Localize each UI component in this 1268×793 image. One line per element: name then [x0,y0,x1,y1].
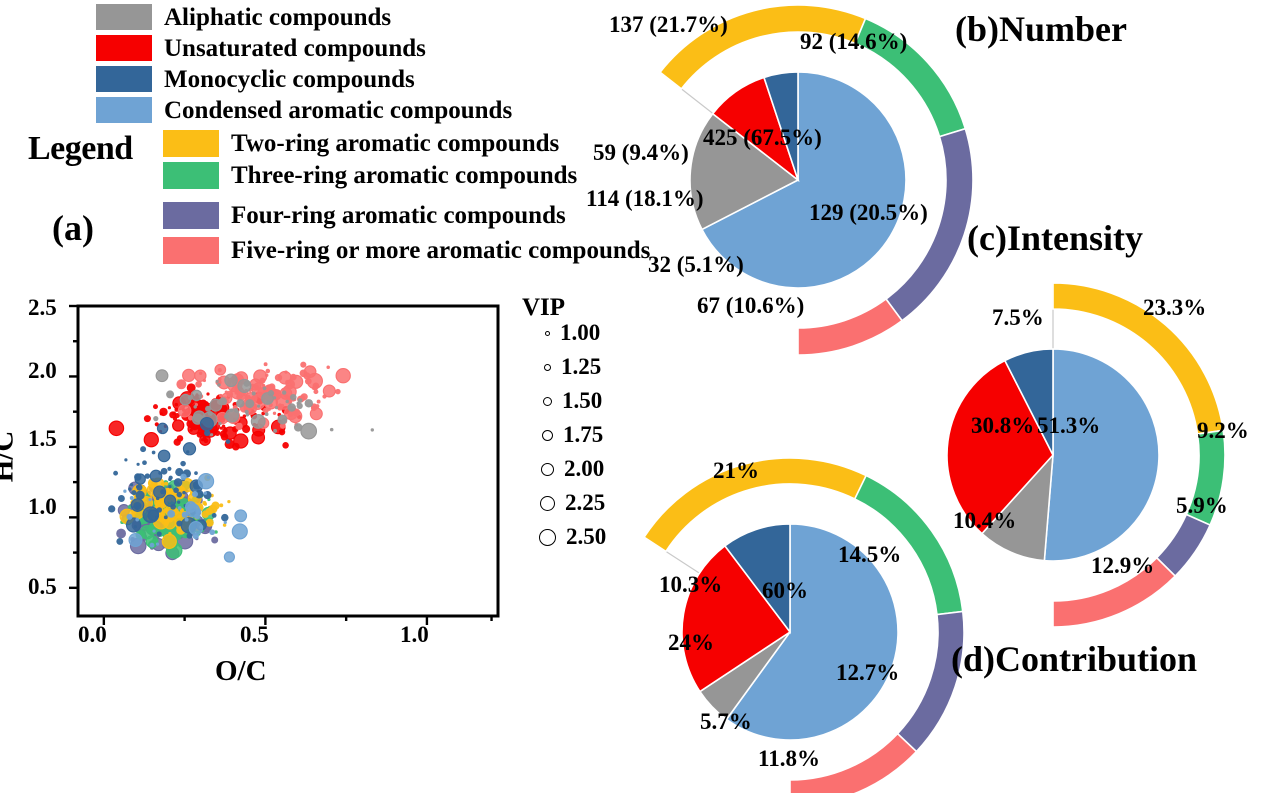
scatter-point-condensed [123,490,126,493]
scatter-point-unsaturated [204,438,209,443]
scatter-point-condensed [194,513,200,519]
scatter-point-unsaturated [160,412,163,415]
vip-marker-icon [540,496,555,511]
scatter-point-unsaturated [242,425,250,433]
scatter-point-condensed [192,491,198,497]
scatter-point-aliphatic [257,404,260,407]
vip-value: 1.25 [561,354,601,380]
scatter-point-condensed [186,502,196,512]
scatter-point-five-ring [264,362,268,366]
vip-value: 2.00 [564,456,604,482]
vip-value: 1.75 [563,422,603,448]
scatter-point-condensed [178,506,182,510]
label-b-outer-four-ring: 129 (20.5%) [809,200,928,226]
scatter-point-aliphatic [210,399,222,411]
legend-swatch-five-ring [163,237,219,264]
scatter-point-condensed [204,491,207,494]
scatter-point-two-ring [175,511,182,518]
scatter-point-monocyclic [182,491,186,495]
scatter-point-aliphatic [252,391,256,395]
scatter-point-condensed [126,514,132,520]
label-b-inner-aliphatic: 32 (5.1%) [648,252,744,278]
scatter-point-monocyclic [221,514,229,522]
scatter-point-monocyclic [140,446,146,452]
scatter-point-five-ring [323,385,335,397]
label-b-inner-unsaturated: 114 (18.1%) [586,186,704,212]
donut-chart-contribution [620,440,990,793]
scatter-point-unsaturated [282,442,289,449]
xtick-1.0: 1.0 [400,622,429,648]
scatter-point-two-ring [159,501,164,506]
scatter-point-aliphatic [166,390,174,398]
scatter-point-aliphatic [330,428,334,432]
legend-label-four-ring: Four-ring aromatic compounds [231,203,566,228]
scatter-point-aliphatic [246,413,249,416]
scatter-point-condensed [209,529,215,535]
scatter-point-monocyclic [160,489,165,494]
inner-slice-0 [1044,349,1159,561]
vip-marker-icon [539,529,556,546]
scatter-point-condensed [189,522,202,535]
scatter-point-monocyclic [158,450,170,462]
label-d-outer-two-ring: 21% [713,458,759,484]
scatter-point-condensed [130,496,134,500]
scatter-point-condensed [129,534,142,547]
donut-contribution-svg [620,440,990,793]
label-b-outer-two-ring: 137 (21.7%) [609,12,728,38]
scatter-point-aliphatic [236,399,245,408]
scatter-point-aliphatic [285,400,288,403]
scatter-point-monocyclic [177,501,180,504]
ytick-1.5: 1.5 [28,426,57,452]
scatter-point-monocyclic [134,525,137,528]
label-d-inner-condensed: 60% [762,578,808,604]
scatter-point-unsaturated [222,425,225,428]
panel-b-title: (b)Number [955,8,1127,50]
scatter-point-aliphatic [305,399,313,407]
vip-item-1.25: 1.25 [544,354,601,380]
outer-arc-3 [798,299,902,355]
scatter-point-two-ring [206,519,214,527]
scatter-point-monocyclic [177,492,183,498]
scatter-point-two-ring [211,502,219,510]
scatter-point-monocyclic [142,460,147,465]
scatter-point-monocyclic [118,495,125,502]
scatter-point-monocyclic [145,473,151,479]
legend-swatch-unsaturated [96,35,152,61]
legend-item-five-ring: Five-ring or more aromatic compounds [163,237,650,264]
scatter-point-condensed [235,510,247,522]
scatter-point-monocyclic [152,451,156,455]
scatter-point-monocyclic [124,458,127,461]
scatter-point-five-ring [336,369,350,383]
legend-swatch-four-ring [163,202,219,229]
legend-label-aliphatic: Aliphatic compounds [164,5,391,30]
scatter-plot-panel: 2.5 2.0 1.5 1.0 0.5 0.0 0.5 1.0 O/C H/C [0,292,620,692]
scatter-point-aliphatic [156,370,168,382]
scatter-point-aliphatic [275,406,278,409]
legend-swatch-aliphatic [96,4,152,30]
scatter-point-monocyclic [134,473,141,480]
scatter-point-five-ring [183,369,195,381]
scatter-point-condensed [167,510,175,518]
scatter-point-aliphatic [234,408,239,413]
scatter-point-aliphatic [263,386,267,390]
legend-label-condensed: Condensed aromatic compounds [164,98,512,123]
panel-a-label: (a) [52,207,94,249]
scatter-point-five-ring [300,362,306,368]
label-c-outer-four-ring: 5.9% [1176,493,1228,519]
scatter-point-unsaturated [144,415,151,422]
vip-item-2.25: 2.25 [540,490,605,516]
scatter-point-condensed [182,511,188,517]
scatter-point-aliphatic [371,428,374,431]
scatter-point-five-ring [215,364,226,375]
scatter-point-monocyclic [157,423,167,433]
scatter-point-five-ring [265,373,268,376]
scatter-point-monocyclic [200,417,213,430]
scatter-point-aliphatic [277,415,287,425]
scatter-point-two-ring [206,508,213,515]
scatter-point-five-ring [235,423,242,430]
plot-frame [78,306,498,616]
scatter-point-aliphatic [225,374,237,386]
label-c-inner-monocyclic: 7.5% [992,305,1044,331]
scatter-point-aliphatic [265,412,269,416]
vip-marker-icon [545,331,550,336]
legend-swatch-monocyclic [96,66,152,92]
label-d-outer-five-ring: 11.8% [758,746,820,772]
scatter-point-aliphatic [193,405,196,408]
scatter-point-aliphatic [153,416,158,421]
donut-contribution-arcs [644,458,964,793]
scatter-point-four-ring [211,537,218,544]
ytick-0.5: 0.5 [28,574,57,600]
scatter-point-two-ring [164,482,168,486]
scatter-point-three-ring [128,505,131,508]
scatter-point-five-ring [178,404,191,417]
scatter-point-monocyclic [156,497,160,501]
scatter-point-monocyclic [113,471,118,476]
scatter-point-five-ring [314,406,318,410]
label-c-outer-five-ring: 12.9% [1091,553,1154,579]
scatter-point-monocyclic [155,516,158,519]
scatter-point-monocyclic [158,471,161,474]
y-axis-title: H/C [0,431,20,483]
scatter-point-aliphatic [238,379,251,392]
label-c-inner-unsaturated: 30.8% [971,413,1034,439]
scatter-point-monocyclic [212,513,217,518]
label-d-inner-monocyclic: 10.3% [659,572,722,598]
scatter-point-condensed [156,543,159,546]
label-b-inner-condensed: 425 (67.5%) [703,125,822,151]
label-c-inner-condensed: 51.3% [1037,413,1100,439]
ytick-1.0: 1.0 [28,494,57,520]
scatter-point-aliphatic [282,390,286,394]
legend-label-unsaturated: Unsaturated compounds [164,36,426,61]
scatter-point-aliphatic [245,399,254,408]
scatter-point-monocyclic [176,520,182,526]
label-d-inner-aliphatic: 5.7% [700,709,752,735]
scatter-point-five-ring [284,370,287,373]
scatter-point-aliphatic [191,390,201,400]
figure-root: Aliphatic compounds Unsaturated compound… [0,0,1268,793]
vip-item-2.00: 2.00 [541,456,604,482]
scatter-point-five-ring [266,369,271,374]
legend-item-two-ring: Two-ring aromatic compounds [163,130,559,157]
scatter-point-unsaturated [173,420,184,431]
scatter-point-five-ring [303,372,310,379]
legend-label-five-ring: Five-ring or more aromatic compounds [231,238,650,263]
scatter-point-aliphatic [251,415,265,429]
scatter-point-aliphatic [208,411,213,416]
label-c-outer-three-ring: 9.2% [1197,418,1249,444]
scatter-point-monocyclic [168,485,171,488]
legend-swatch-two-ring [163,130,219,157]
label-d-outer-four-ring: 12.7% [836,660,899,686]
scatter-point-aliphatic [266,400,270,404]
scatter-point-five-ring [275,374,282,381]
xtick-0.5: 0.5 [240,622,269,648]
scatter-point-five-ring [290,374,297,381]
scatter-point-five-ring [289,410,302,423]
scatter-point-unsaturated [232,443,240,451]
xtick-0.0: 0.0 [78,622,107,648]
label-b-inner-monocyclic: 59 (9.4%) [593,140,689,166]
scatter-point-condensed [185,518,189,522]
scatter-point-unsaturated [175,403,179,407]
label-b-outer-three-ring: 92 (14.6%) [800,29,907,55]
legend-label-three-ring: Three-ring aromatic compounds [231,163,577,188]
vip-value: 2.50 [566,524,606,550]
scatter-point-condensed [193,533,199,539]
scatter-point-five-ring [219,394,222,397]
scatter-point-five-ring [199,372,202,375]
scatter-point-unsaturated [206,392,209,395]
outer-arc-2 [898,611,964,751]
scatter-point-five-ring [218,377,222,381]
scatter-point-monocyclic [164,495,175,506]
legend-item-unsaturated: Unsaturated compounds [96,35,426,61]
scatter-point-unsaturated [279,429,285,435]
scatter-point-aliphatic [273,396,276,399]
scatter-point-two-ring [162,534,176,548]
legend-heading: Legend [28,130,133,168]
x-axis-title: O/C [215,655,267,688]
scatter-point-five-ring [176,379,186,389]
legend-item-aliphatic: Aliphatic compounds [96,4,391,30]
scatter-point-two-ring [219,503,223,507]
scatter-point-unsaturated [153,404,158,409]
scatter-point-monocyclic [136,484,142,490]
vip-item-1.00: 1.00 [545,320,600,346]
label-d-outer-three-ring: 14.5% [838,542,901,568]
label-b-outer-five-ring: 67 (10.6%) [697,293,804,319]
scatter-point-unsaturated [144,433,158,447]
scatter-point-monocyclic [137,463,140,466]
ytick-2.0: 2.0 [28,358,57,384]
scatter-point-monocyclic [167,467,171,471]
scatter-point-monocyclic [161,468,168,475]
legend-swatch-condensed [96,97,152,123]
scatter-point-five-ring [243,393,246,396]
label-c-outer-two-ring: 23.3% [1143,295,1206,321]
scatter-point-five-ring [277,406,282,411]
panel-d-title: (d)Contribution [951,638,1197,680]
scatter-point-five-ring [267,385,272,390]
scatter-point-aliphatic [287,403,296,412]
vip-item-1.75: 1.75 [542,422,603,448]
scatter-point-condensed [180,474,186,480]
scatter-point-aliphatic [180,394,191,405]
scatter-point-aliphatic [268,390,274,396]
scatter-point-monocyclic [133,502,141,510]
vip-item-2.50: 2.50 [539,524,606,550]
scatter-point-monocyclic [168,478,172,482]
scatter-point-two-ring [204,502,207,505]
scatter-point-aliphatic [216,380,219,383]
vip-marker-icon [541,463,554,476]
scatter-point-condensed [224,521,227,524]
legend-item-three-ring: Three-ring aromatic compounds [163,162,577,189]
legend-item-condensed: Condensed aromatic compounds [96,97,512,123]
scatter-point-five-ring [335,389,341,395]
scatter-point-monocyclic [130,483,133,486]
scatter-point-five-ring [203,379,206,382]
scatter-point-aliphatic [217,383,221,387]
scatter-point-aliphatic [218,422,221,425]
panel-c-title: (c)Intensity [967,217,1143,259]
scatter-point-monocyclic [136,491,145,500]
scatter-point-five-ring [317,400,321,404]
scatter-point-condensed [224,552,234,562]
scatter-point-unsaturated [243,414,247,418]
legend-item-monocyclic: Monocyclic compounds [96,66,415,92]
scatter-point-monocyclic [194,471,198,475]
scatter-point-aliphatic [210,433,213,436]
scatter-point-two-ring [168,532,171,535]
scatter-point-condensed [148,498,151,501]
scatter-point-five-ring [273,412,276,415]
scatter-point-monocyclic [157,531,162,536]
scatter-point-four-ring [116,529,126,539]
vip-marker-icon [542,430,553,441]
vip-item-1.50: 1.50 [543,388,602,414]
vip-marker-icon [543,397,552,406]
scatter-point-monocyclic [183,443,195,455]
vip-legend-title: VIP [522,294,565,322]
legend-item-four-ring: Four-ring aromatic compounds [163,202,566,229]
scatter-point-unsaturated [173,417,177,421]
legend-swatch-three-ring [163,162,219,189]
scatter-point-monocyclic [174,478,183,487]
scatter-point-two-ring [227,500,230,503]
scatter-point-aliphatic [297,403,303,409]
scatter-point-condensed [135,518,139,522]
vip-value: 1.50 [562,388,602,414]
scatter-point-monocyclic [116,538,123,545]
vip-marker-icon [544,364,551,371]
scatter-point-monocyclic [157,507,162,512]
scatter-point-condensed [150,543,155,548]
scatter-point-aliphatic [290,394,297,401]
scatter-point-unsaturated [168,406,171,409]
scatter-point-condensed [232,524,247,539]
vip-value: 2.25 [565,490,605,516]
scatter-point-condensed [198,474,213,489]
scatter-point-five-ring [326,366,330,370]
label-d-inner-unsaturated: 24% [668,630,714,656]
scatter-point-monocyclic [108,505,115,512]
scatter-point-five-ring [285,380,290,385]
legend-label-monocyclic: Monocyclic compounds [164,67,415,92]
scatter-point-five-ring [195,381,202,388]
scatter-point-monocyclic [204,430,210,436]
scatter-point-aliphatic [273,429,277,433]
ytick-2.5: 2.5 [28,295,57,321]
scatter-point-monocyclic [164,515,168,519]
scatter-point-unsaturated [177,435,184,442]
legend-label-two-ring: Two-ring aromatic compounds [231,131,559,156]
vip-value: 1.00 [560,320,600,346]
scatter-point-unsaturated [224,427,236,439]
scatter-point-unsaturated [109,421,123,435]
scatter-point-aliphatic [298,398,303,403]
scatter-point-aliphatic [301,423,317,439]
scatter-point-condensed [152,529,155,532]
scatter-point-monocyclic [226,439,231,444]
legend: Aliphatic compounds Unsaturated compound… [0,0,600,275]
scatter-point-monocyclic [180,461,186,467]
scatter-point-monocyclic [128,487,131,490]
